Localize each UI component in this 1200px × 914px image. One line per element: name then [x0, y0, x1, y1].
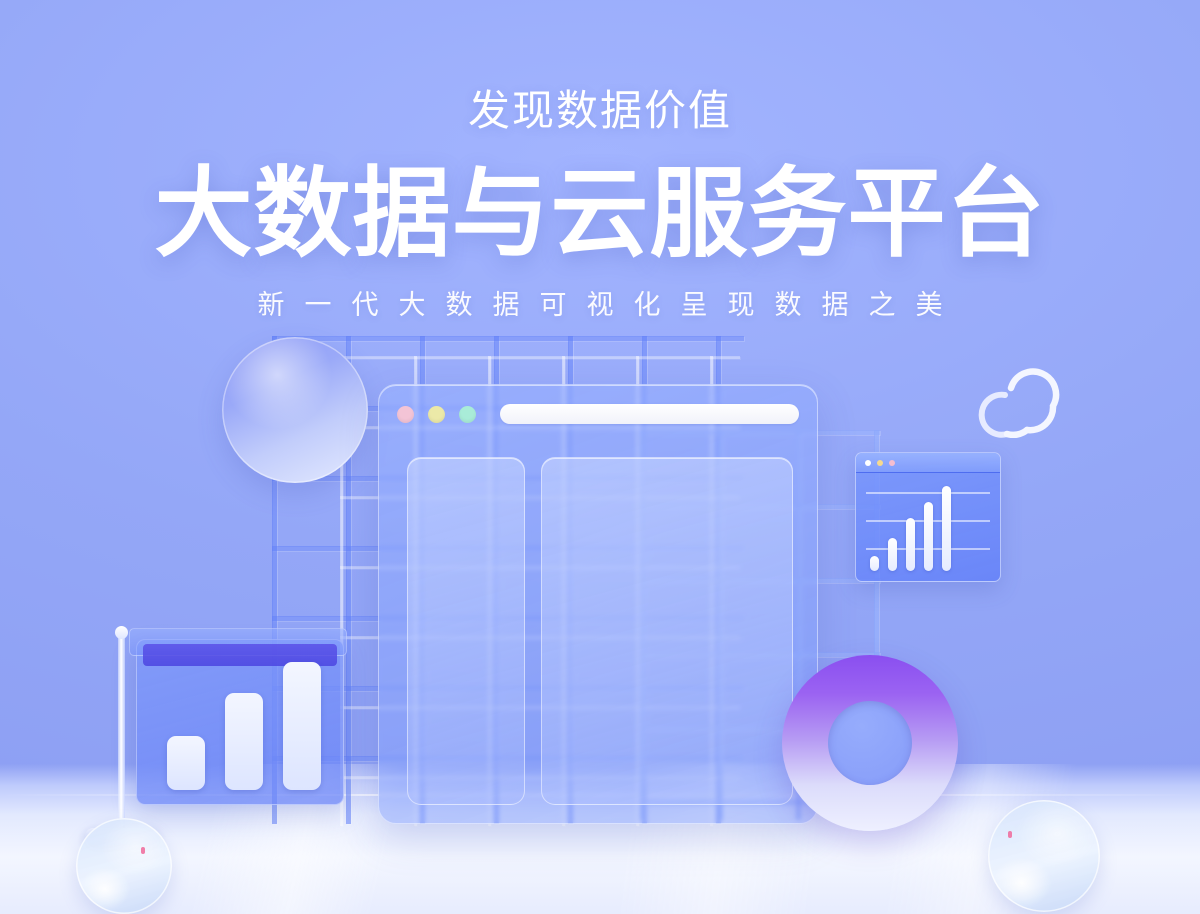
hero-subtitle: 发现数据价值 — [0, 90, 1200, 132]
sphere-highlight — [1008, 831, 1012, 838]
glass-sphere-left — [76, 818, 172, 914]
donut-ring-chart — [782, 655, 958, 831]
close-dot[interactable] — [397, 406, 414, 423]
bar — [888, 538, 897, 571]
address-bar-input[interactable] — [500, 404, 799, 424]
hero-title: 大数据与云服务平台 — [0, 164, 1200, 262]
chart-stand-cap — [115, 626, 128, 639]
content-panel[interactable] — [541, 457, 793, 805]
left-chart-card[interactable] — [136, 639, 344, 805]
browser-window[interactable] — [378, 384, 818, 824]
hero-text-block: 发现数据价值 大数据与云服务平台 新一代大数据可视化呈现数据之美 — [0, 0, 1200, 319]
hero-banner: 发现数据价值 大数据与云服务平台 新一代大数据可视化呈现数据之美 — [0, 0, 1200, 914]
minimize-dot[interactable] — [428, 406, 445, 423]
sphere-highlight — [141, 847, 145, 854]
dot-white-icon[interactable] — [865, 460, 871, 466]
hero-tagline: 新一代大数据可视化呈现数据之美 — [0, 292, 1200, 319]
glass-sphere-right — [988, 800, 1100, 912]
bar — [942, 486, 951, 572]
maximize-dot[interactable] — [459, 406, 476, 423]
dot-yellow-icon[interactable] — [877, 460, 883, 466]
bar — [283, 662, 321, 790]
mini-window-titlebar — [856, 453, 1000, 473]
mini-bar-series — [870, 481, 988, 571]
bar — [870, 556, 879, 571]
chart-stand-pole — [118, 632, 125, 836]
browser-titlebar — [379, 385, 817, 443]
sidebar-panel[interactable] — [407, 457, 525, 805]
mini-chart-plot — [856, 473, 1000, 582]
mini-chart-window[interactable] — [855, 452, 1001, 582]
cloud-icon — [975, 362, 1067, 438]
dot-pink-icon[interactable] — [889, 460, 895, 466]
glass-disc — [222, 337, 368, 483]
bar — [167, 736, 205, 790]
bar — [225, 693, 263, 790]
bar — [924, 502, 933, 571]
left-bar-series — [167, 662, 325, 790]
bar — [906, 518, 915, 571]
